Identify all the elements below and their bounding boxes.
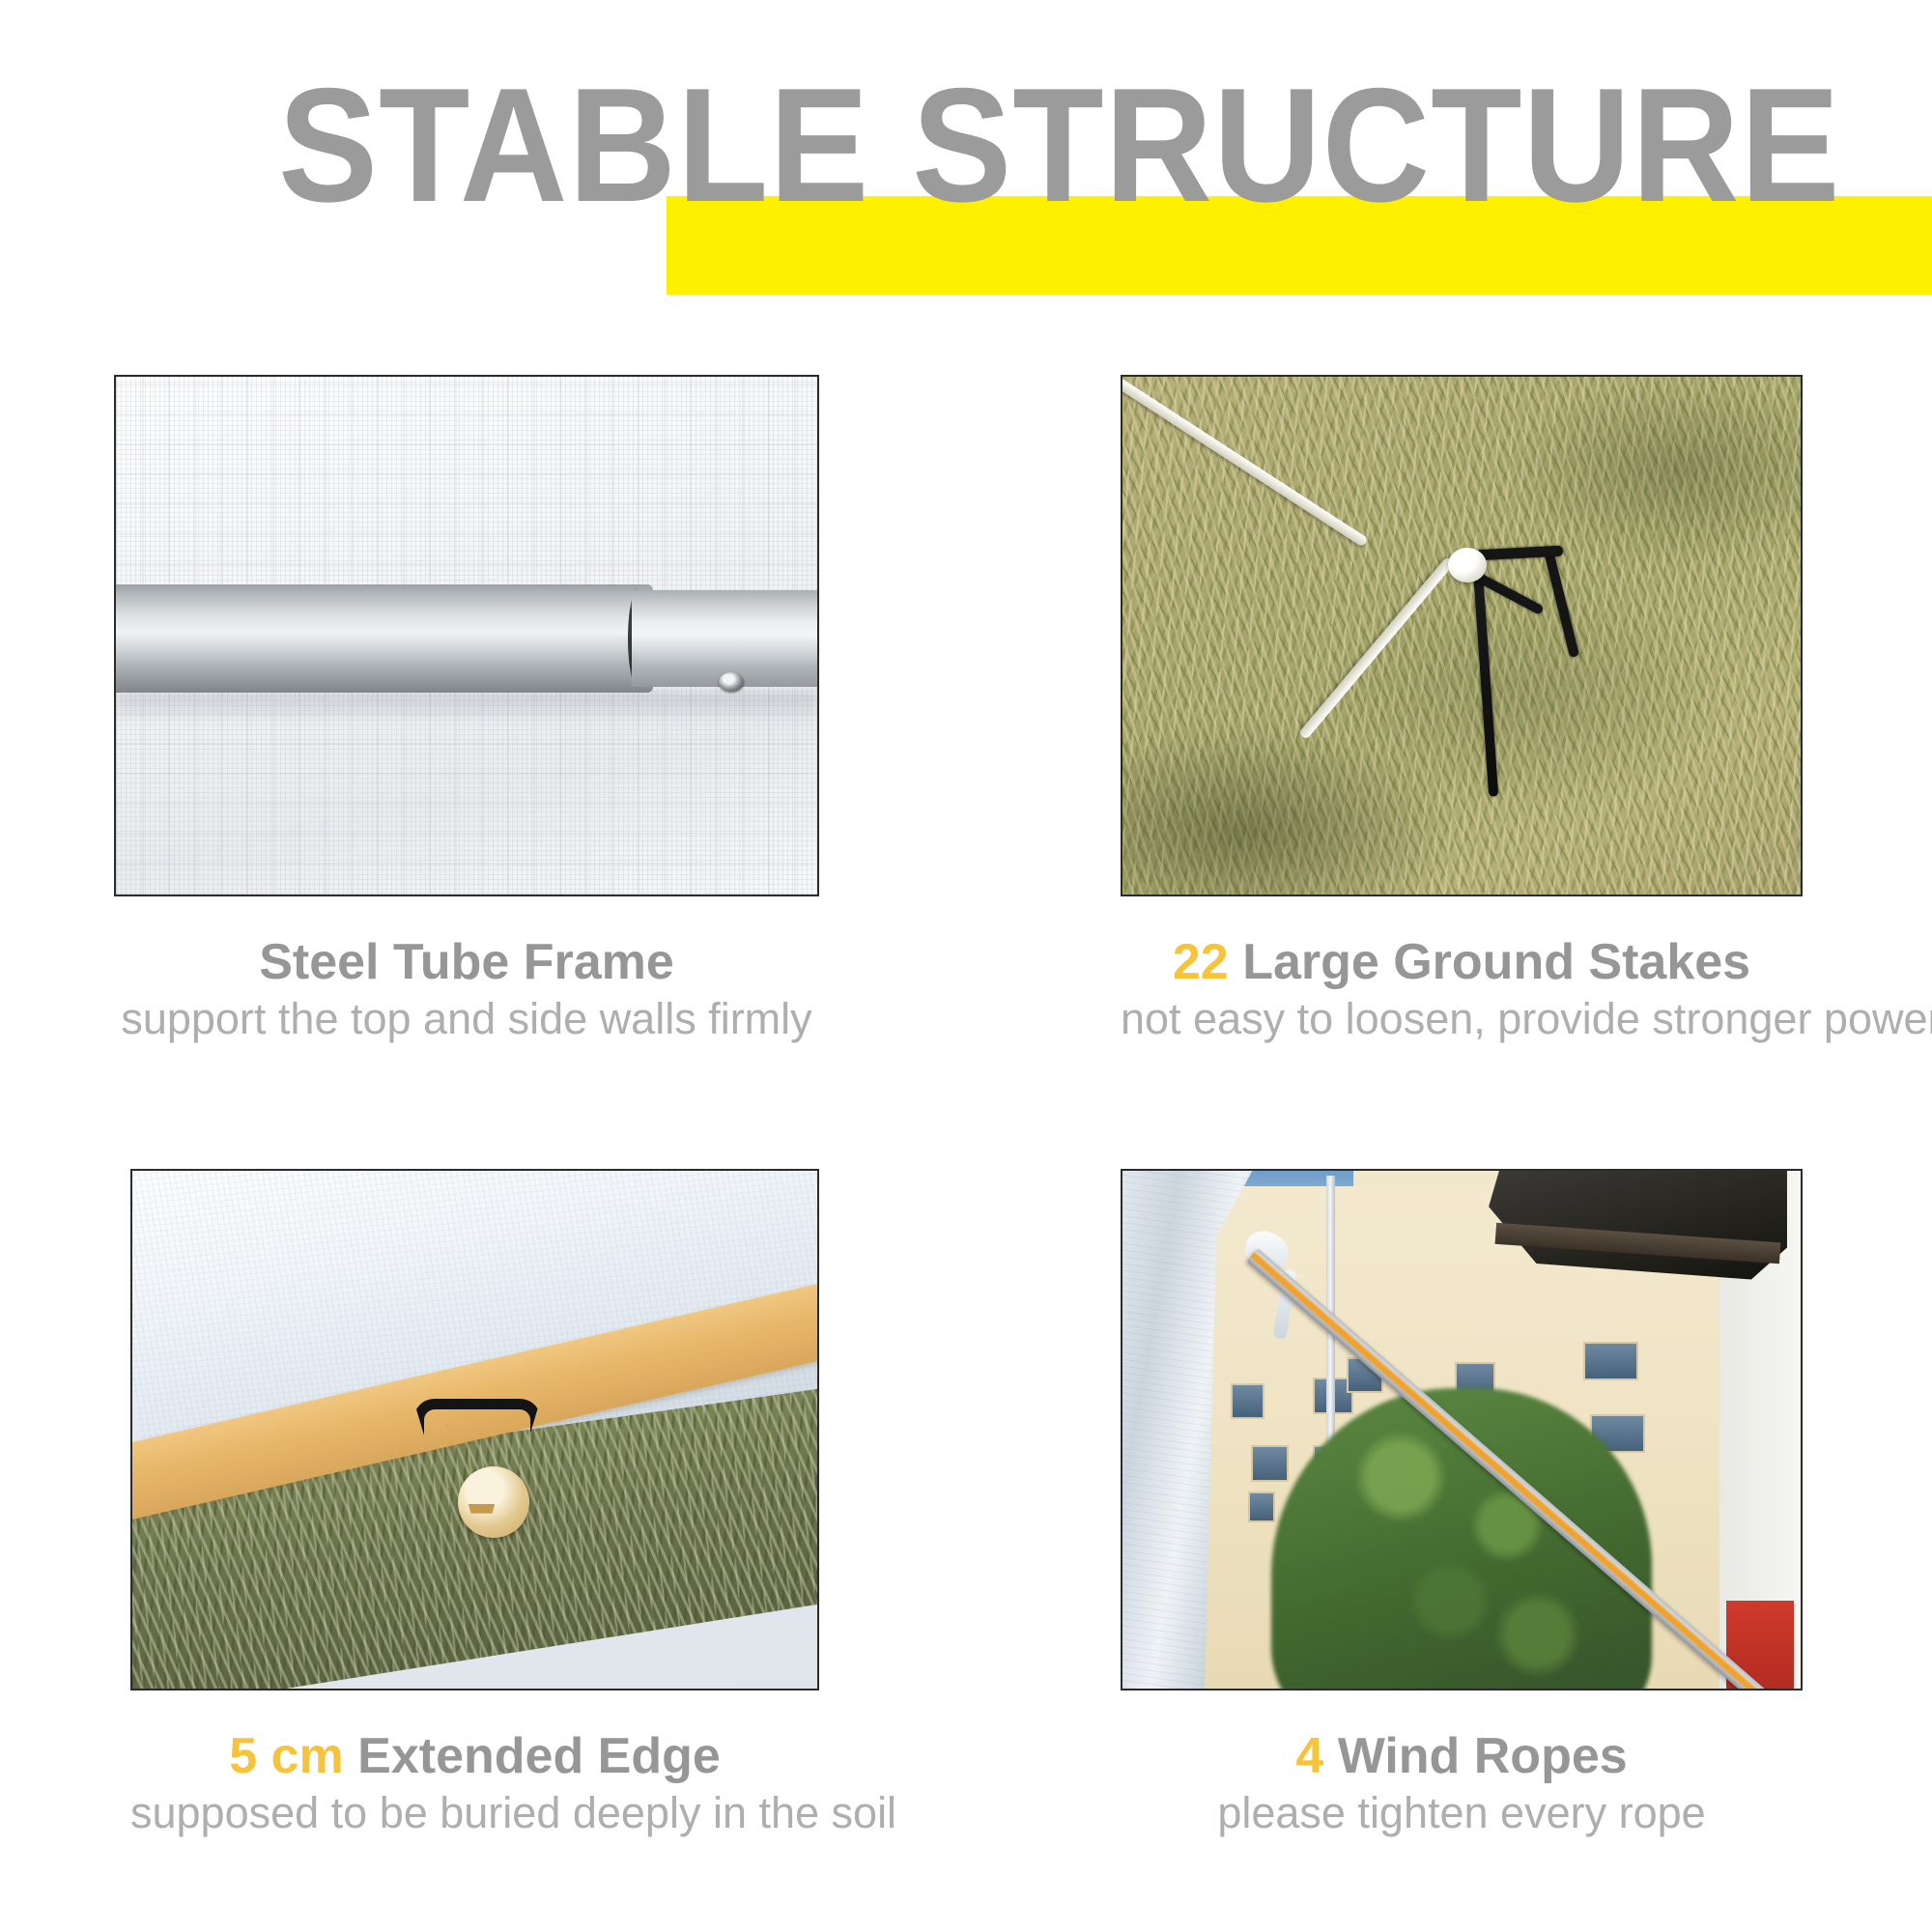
photo-tarp-edge-background <box>132 1171 817 1689</box>
feature-card-wind-ropes: 4 Wind Ropes please tighten every rope <box>1121 1169 1803 1837</box>
caption-highlight-value: 22 <box>1173 934 1229 990</box>
caption-heading-text: Wind Ropes <box>1338 1728 1628 1784</box>
caption-heading-text: Extended Edge <box>357 1728 721 1784</box>
caption-extended-edge: 5 cm Extended Edge supposed to be buried… <box>130 1729 819 1837</box>
caption-heading: 5 cm Extended Edge <box>130 1729 819 1783</box>
page-title: STABLE STRUCTURE <box>278 64 1841 226</box>
photo-grass-background <box>1122 377 1801 895</box>
steel-tube-body <box>116 584 653 693</box>
caption-subtext: support the top and side walls firmly <box>114 995 819 1043</box>
caption-heading: Steel Tube Frame <box>114 935 819 989</box>
tube-shadow <box>116 693 817 722</box>
caption-ground-stakes: 22 Large Ground Stakes not easy to loose… <box>1121 935 1803 1043</box>
caption-heading: 22 Large Ground Stakes <box>1121 935 1803 989</box>
feature-photo-wind-ropes <box>1121 1169 1803 1690</box>
caption-subtext: please tighten every rope <box>1121 1789 1803 1837</box>
caption-highlight-value: 5 cm <box>229 1728 344 1784</box>
caption-subtext: not easy to loosen, provide stronger pow… <box>1121 995 1803 1043</box>
caption-subtext: supposed to be buried deeply in the soil <box>130 1789 819 1837</box>
building-window <box>1248 1492 1275 1522</box>
caption-heading: 4 Wind Ropes <box>1121 1729 1803 1783</box>
building-window <box>1251 1445 1289 1482</box>
feature-card-extended-edge: 5 cm Extended Edge supposed to be buried… <box>130 1169 819 1837</box>
building-window <box>1231 1383 1264 1420</box>
caption-heading-text: Steel Tube Frame <box>259 934 674 990</box>
header: STABLE STRUCTURE <box>0 0 1932 319</box>
feature-photo-extended-edge <box>130 1169 819 1690</box>
caption-steel-tube-frame: Steel Tube Frame support the top and sid… <box>114 935 819 1043</box>
building-window <box>1583 1342 1637 1380</box>
tube-rivet-hole-icon <box>719 672 744 692</box>
steel-tube-connector-sleeve <box>632 590 817 687</box>
caption-wind-ropes: 4 Wind Ropes please tighten every rope <box>1121 1729 1803 1837</box>
feature-card-steel-tube-frame: Steel Tube Frame support the top and sid… <box>114 375 819 1043</box>
infographic-page: STABLE STRUCTURE Steel Tube Frame suppor… <box>0 0 1932 1932</box>
caption-highlight-value: 4 <box>1295 1728 1323 1784</box>
feature-photo-steel-tube-frame <box>114 375 819 896</box>
caption-heading-text: Large Ground Stakes <box>1242 934 1750 990</box>
photo-wind-rope-background <box>1122 1171 1801 1689</box>
feature-card-ground-stakes: 22 Large Ground Stakes not easy to loose… <box>1121 375 1803 1043</box>
feature-photo-ground-stakes <box>1121 375 1803 896</box>
rope-knot <box>1448 548 1487 582</box>
photo-white-tarp-background <box>116 377 817 895</box>
